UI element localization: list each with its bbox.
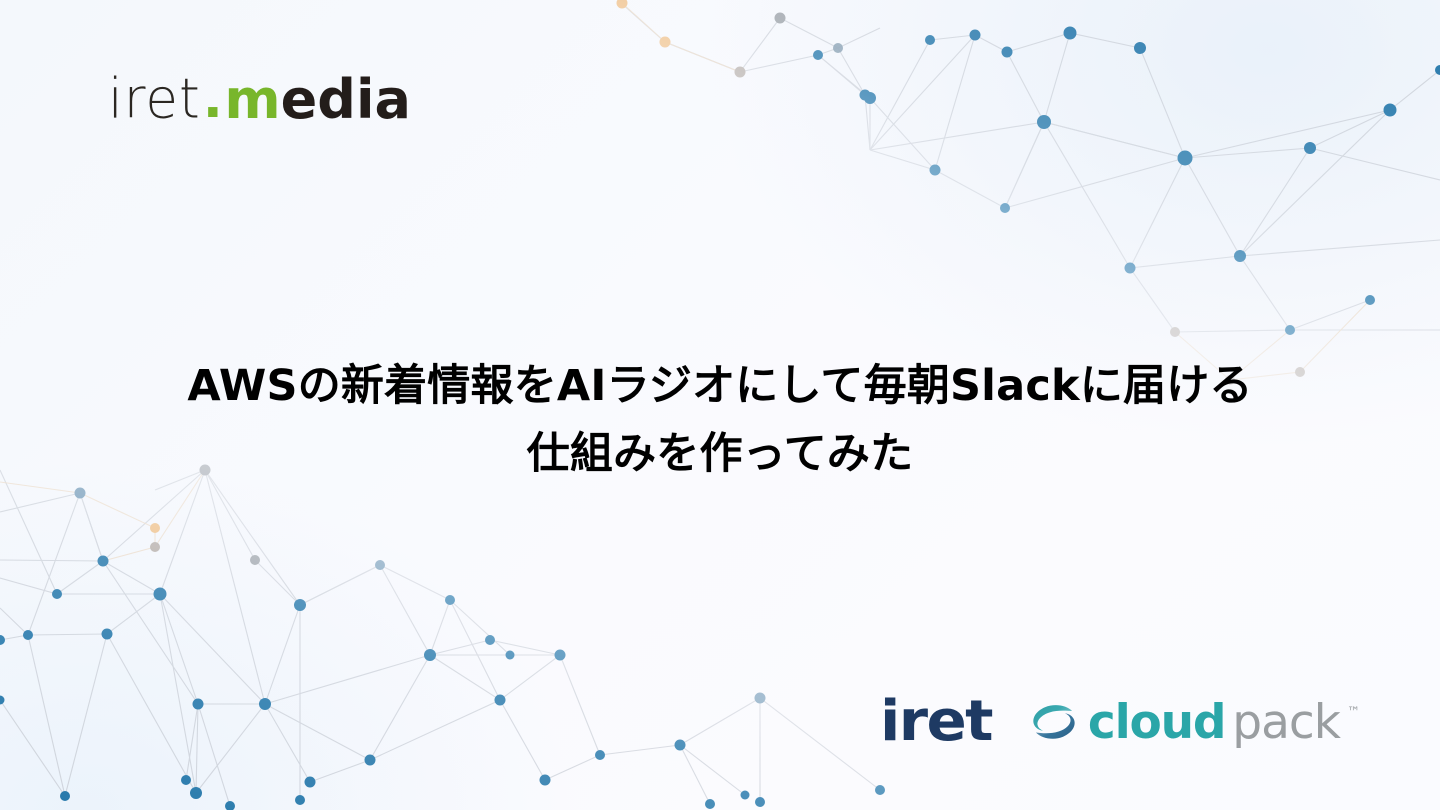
cloudpack-bold-text: cloud [1088, 699, 1225, 746]
wordmark-thin-part: iret [108, 67, 201, 130]
footer-logo-group: iret [880, 694, 1360, 750]
iret-media-wordmark[interactable]: iret.media [108, 68, 411, 130]
page-title: AWSの新着情報をAIラジオにして毎朝Slackに届ける 仕組みを作ってみた [0, 352, 1440, 488]
wordmark-accent-letter: m [224, 68, 280, 131]
trademark-symbol: ™ [1347, 705, 1360, 720]
wordmark-dot: . [203, 69, 224, 130]
cloudpack-logo[interactable]: cloudpack™ [1028, 699, 1360, 746]
iret-logo[interactable]: iret [880, 694, 992, 750]
title-slide: iret.media AWSの新着情報をAIラジオにして毎朝Slackに届ける … [0, 0, 1440, 810]
wordmark-rest-part: edia [281, 68, 411, 131]
cloudpack-swirl-icon [1028, 702, 1080, 742]
cloudpack-light-text: pack [1232, 699, 1340, 746]
page-title-line-1: AWSの新着情報をAIラジオにして毎朝Slackに届ける [90, 352, 1350, 420]
page-title-line-2: 仕組みを作ってみた [90, 420, 1350, 488]
